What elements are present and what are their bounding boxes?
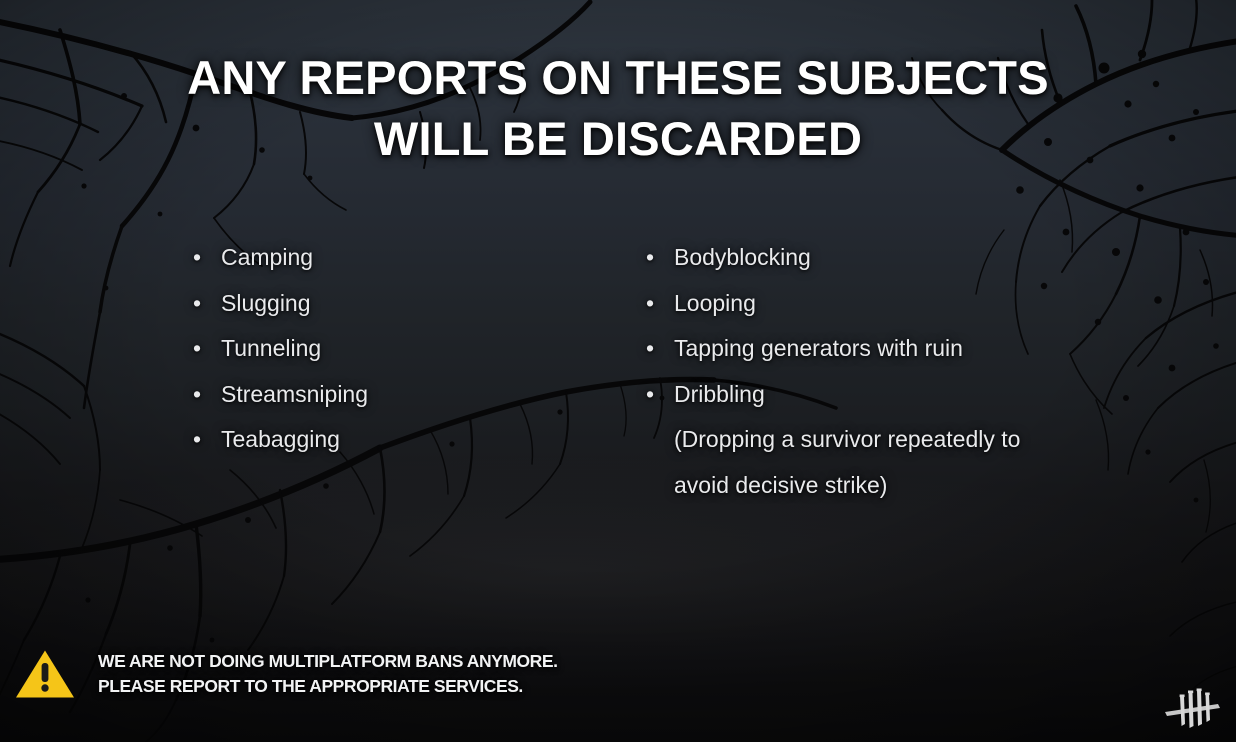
slide-title-line-2: WILL BE DISCARDED bbox=[0, 108, 1236, 169]
dead-by-daylight-hook-logo bbox=[1162, 684, 1224, 730]
warning-triangle-icon bbox=[14, 648, 76, 700]
warning-banner: WE ARE NOT DOING MULTIPLATFORM BANS ANYM… bbox=[14, 648, 557, 700]
list-item-label: Looping bbox=[674, 281, 756, 327]
list-item-label: Slugging bbox=[221, 281, 311, 327]
bullet-dot-icon: • bbox=[190, 235, 221, 281]
bullet-dot-icon: • bbox=[190, 326, 221, 372]
warning-text-line-2: PLEASE REPORT TO THE APPROPRIATE SERVICE… bbox=[98, 674, 557, 699]
bullet-dot-icon: • bbox=[190, 281, 221, 327]
list-item: • Dribbling bbox=[643, 372, 1020, 418]
bullet-dot-icon: • bbox=[643, 372, 674, 418]
slide-title: ANY REPORTS ON THESE SUBJECTS WILL BE DI… bbox=[0, 47, 1236, 169]
list-item-label: Tapping generators with ruin bbox=[674, 326, 963, 372]
bullet-dot-icon: • bbox=[643, 235, 674, 281]
list-item-label: Bodyblocking bbox=[674, 235, 811, 281]
list-item: • Camping bbox=[190, 235, 368, 281]
list-item-note-line-1: (Dropping a survivor repeatedly to bbox=[674, 417, 1020, 463]
bullet-dot-icon: • bbox=[643, 281, 674, 327]
list-item-label: Teabagging bbox=[221, 417, 340, 463]
bullet-column-right: • Bodyblocking • Looping • Tapping gener… bbox=[643, 235, 1020, 508]
list-item: • Tapping generators with ruin bbox=[643, 326, 1020, 372]
list-item-label: Dribbling bbox=[674, 372, 765, 418]
list-item: • Bodyblocking bbox=[643, 235, 1020, 281]
presentation-slide: ANY REPORTS ON THESE SUBJECTS WILL BE DI… bbox=[0, 0, 1236, 742]
list-item-label: Streamsniping bbox=[221, 372, 368, 418]
slide-title-line-1: ANY REPORTS ON THESE SUBJECTS bbox=[0, 47, 1236, 108]
list-item: • Teabagging bbox=[190, 417, 368, 463]
bullet-dot-icon: • bbox=[643, 326, 674, 372]
bullet-dot-icon: • bbox=[190, 372, 221, 418]
list-item: • Tunneling bbox=[190, 326, 368, 372]
list-item-label: Camping bbox=[221, 235, 313, 281]
bullet-column-left: • Camping • Slugging • Tunneling • Strea… bbox=[190, 235, 368, 463]
list-item: • Streamsniping bbox=[190, 372, 368, 418]
list-item-note-line-2: avoid decisive strike) bbox=[674, 463, 1020, 509]
list-item: • Looping bbox=[643, 281, 1020, 327]
warning-text-line-1: WE ARE NOT DOING MULTIPLATFORM BANS ANYM… bbox=[98, 649, 557, 674]
bullet-dot-icon: • bbox=[190, 417, 221, 463]
list-item-label: Tunneling bbox=[221, 326, 321, 372]
warning-text: WE ARE NOT DOING MULTIPLATFORM BANS ANYM… bbox=[98, 649, 557, 699]
list-item: • Slugging bbox=[190, 281, 368, 327]
